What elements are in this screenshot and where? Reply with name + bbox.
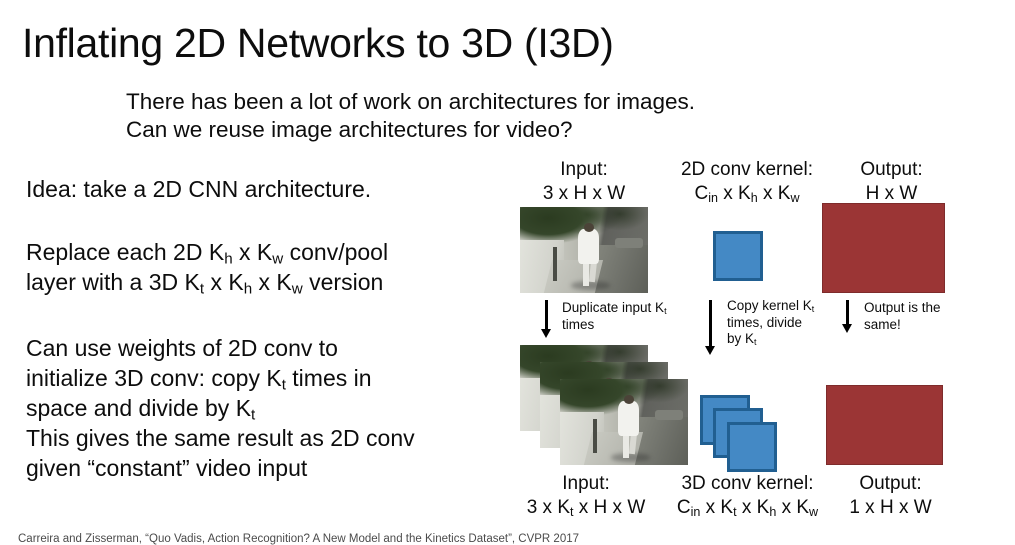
conv-kernel-3d-stack [700, 395, 790, 473]
paragraph-weights: Can use weights of 2D conv to initialize… [26, 333, 415, 483]
arrow-copy-kernel [709, 300, 712, 347]
arrow-head-icon [541, 329, 551, 338]
photo-person-body [618, 401, 640, 435]
arrow-duplicate-input [545, 300, 548, 330]
photo-post [593, 419, 597, 453]
annotation-duplicate-input: Duplicate input Kt times [562, 300, 682, 333]
paragraph-idea-line-1: Idea: take a 2D CNN architecture. [26, 174, 371, 204]
annotation-copy-kernel-line-3: by Kt [727, 331, 827, 348]
annotation-copy-kernel-line-2: times, divide [727, 315, 827, 332]
subtitle-line-2: Can we reuse image architectures for vid… [126, 116, 695, 144]
annotation-output-same: Output is the same! [864, 300, 969, 333]
conv-kernel-2d [713, 231, 763, 281]
photo-car [655, 410, 683, 420]
photo-person-leg-left [583, 260, 589, 286]
label-kernel-top-heading: 2D conv kernel: [662, 158, 832, 182]
arrow-output-same [846, 300, 849, 325]
photo-person-head [584, 223, 594, 232]
label-output-top: Output: H x W [824, 158, 959, 206]
footer-citation: Carreira and Zisserman, “Quo Vadis, Acti… [18, 533, 579, 545]
page-title: Inflating 2D Networks to 3D (I3D) [22, 20, 614, 67]
annotation-output-same-line-2: same! [864, 317, 969, 334]
photo-car [615, 238, 643, 248]
arrow-head-icon [705, 346, 715, 355]
paragraph-replace-line-1: Replace each 2D Kh x Kw conv/pool [26, 237, 388, 267]
label-output-top-heading: Output: [824, 158, 959, 182]
label-input-top-shape: 3 x H x W [514, 182, 654, 206]
label-output-bottom-heading: Output: [818, 472, 963, 496]
output-map-3d [826, 385, 943, 465]
photo-person-body [578, 229, 600, 263]
paragraph-replace: Replace each 2D Kh x Kw conv/pool layer … [26, 237, 388, 297]
label-kernel-bottom-shape: Cin x Kt x Kh x Kw [655, 496, 840, 520]
annotation-duplicate-input-line-2: times [562, 317, 682, 334]
paragraph-weights-line-3: space and divide by Kt [26, 393, 415, 423]
paragraph-weights-line-5: given “constant” video input [26, 453, 415, 483]
input-photo-stack [520, 345, 688, 465]
photo-person-head [624, 395, 634, 404]
paragraph-weights-line-2: initialize 3D conv: copy Kt times in [26, 363, 415, 393]
input-photo-single [520, 207, 648, 293]
paragraph-replace-line-2: layer with a 3D Kt x Kh x Kw version [26, 267, 388, 297]
paragraph-idea: Idea: take a 2D CNN architecture. [26, 174, 371, 204]
label-input-bottom: Input: 3 x Kt x H x W [506, 472, 666, 520]
label-kernel-top: 2D conv kernel: Cin x Kh x Kw [662, 158, 832, 206]
photo-person-leg-left [623, 432, 629, 458]
paragraph-weights-line-1: Can use weights of 2D conv to [26, 333, 415, 363]
slide-canvas: Inflating 2D Networks to 3D (I3D) There … [0, 0, 1015, 545]
label-input-bottom-shape: 3 x Kt x H x W [506, 496, 666, 520]
label-output-bottom-shape: 1 x H x W [818, 496, 963, 520]
annotation-output-same-line-1: Output is the [864, 300, 969, 317]
conv-kernel-slice [727, 422, 777, 472]
annotation-duplicate-input-line-1: Duplicate input Kt [562, 300, 682, 317]
subtitle-line-1: There has been a lot of work on architec… [126, 88, 695, 116]
paragraph-weights-line-4: This gives the same result as 2D conv [26, 423, 415, 453]
label-kernel-bottom-heading: 3D conv kernel: [655, 472, 840, 496]
label-output-bottom: Output: 1 x H x W [818, 472, 963, 520]
input-photo-frame [560, 379, 688, 465]
photo-post [553, 247, 557, 281]
label-input-top: Input: 3 x H x W [514, 158, 654, 206]
annotation-copy-kernel-line-1: Copy kernel Kt [727, 298, 827, 315]
label-kernel-bottom: 3D conv kernel: Cin x Kt x Kh x Kw [655, 472, 840, 520]
label-input-bottom-heading: Input: [506, 472, 666, 496]
label-kernel-top-shape: Cin x Kh x Kw [662, 182, 832, 206]
arrow-head-icon [842, 324, 852, 333]
label-input-top-heading: Input: [514, 158, 654, 182]
annotation-copy-kernel: Copy kernel Kt times, divide by Kt [727, 298, 827, 348]
output-map-2d [822, 203, 945, 293]
subtitle-block: There has been a lot of work on architec… [126, 88, 695, 144]
